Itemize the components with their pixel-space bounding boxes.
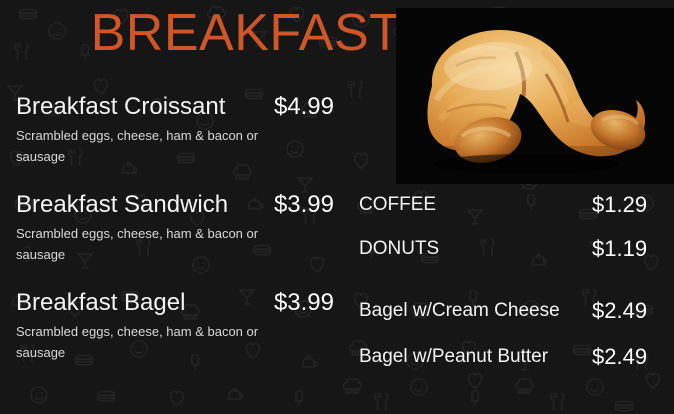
item-name: Bagel w/Cream Cheese <box>359 300 560 321</box>
item-name: Bagel w/Peanut Butter <box>359 346 548 367</box>
menu-item[interactable]: Breakfast Bagel $3.99 Scrambled eggs, ch… <box>16 288 334 363</box>
item-price: $2.49 <box>592 344 647 370</box>
item-name: DONUTS <box>359 238 439 259</box>
item-price: $1.19 <box>592 236 647 262</box>
item-price: $3.99 <box>274 288 334 318</box>
menu-item[interactable]: COFFEE $1.29 <box>359 192 659 218</box>
item-name: Breakfast Bagel <box>16 288 185 318</box>
item-price: $3.99 <box>274 190 334 220</box>
menu-item[interactable]: Breakfast Croissant $4.99 Scrambled eggs… <box>16 92 334 167</box>
menu-item[interactable]: Breakfast Sandwich $3.99 Scrambled eggs,… <box>16 190 334 265</box>
item-name: COFFEE <box>359 194 436 215</box>
menu-item[interactable]: Bagel w/Peanut Butter $2.49 <box>359 344 659 370</box>
item-price: $4.99 <box>274 92 334 122</box>
breakfast-menu-board: BREAKFAST <box>0 0 674 414</box>
item-description: Scrambled eggs, cheese, ham & bacon or s… <box>16 125 292 167</box>
menu-item[interactable]: DONUTS $1.19 <box>359 236 659 262</box>
item-name: Breakfast Croissant <box>16 92 225 122</box>
menu-item[interactable]: Bagel w/Cream Cheese $2.49 <box>359 298 659 324</box>
item-description: Scrambled eggs, cheese, ham & bacon or s… <box>16 321 292 363</box>
item-price: $1.29 <box>592 192 647 218</box>
croissant-photo <box>396 8 674 184</box>
item-price: $2.49 <box>592 298 647 324</box>
side-items-list: COFFEE $1.29 DONUTS $1.19 Bagel w/Cream … <box>359 192 659 370</box>
item-description: Scrambled eggs, cheese, ham & bacon or s… <box>16 223 292 265</box>
main-items-list: Breakfast Croissant $4.99 Scrambled eggs… <box>16 92 334 381</box>
item-name: Breakfast Sandwich <box>16 190 228 220</box>
